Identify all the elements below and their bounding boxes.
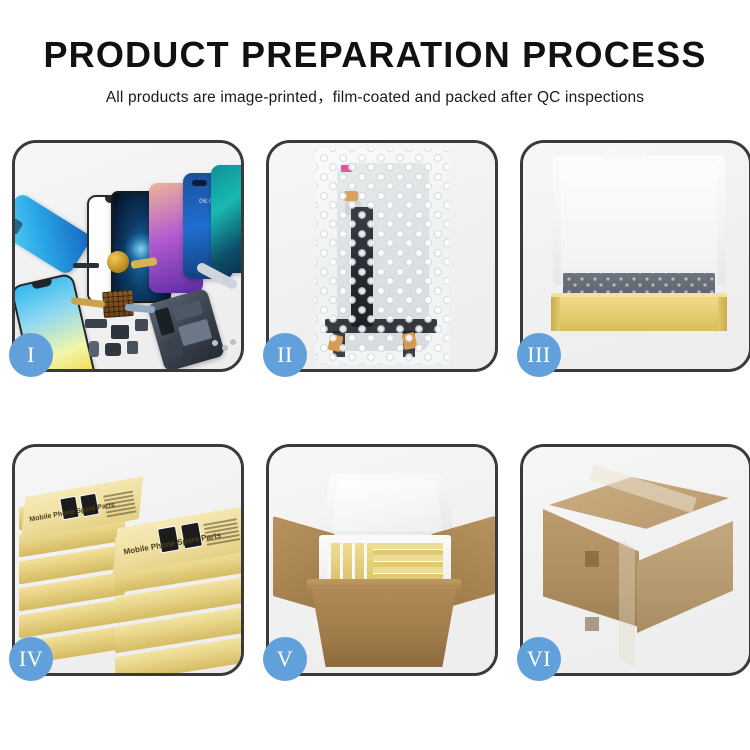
step-2-image bbox=[269, 143, 495, 369]
carton-body-icon bbox=[311, 585, 457, 667]
screws-icon bbox=[211, 339, 237, 353]
step-panel-6: VI bbox=[520, 444, 750, 676]
yellow-box-base-icon bbox=[551, 297, 727, 331]
step-3-image bbox=[523, 143, 749, 369]
page-subtitle: All products are image-printed，film-coat… bbox=[0, 85, 750, 107]
step-panel-4: Mobile Phone Spare Parts Mobile Phone Sp… bbox=[12, 444, 244, 676]
poster-header: PRODUCT PREPARATION PROCESS All products… bbox=[0, 0, 750, 107]
step-badge-6: VI bbox=[517, 637, 561, 681]
step-badge-2: II bbox=[263, 333, 307, 377]
speaker-coil-icon bbox=[107, 251, 129, 273]
step-badge-4: IV bbox=[9, 637, 53, 681]
step-badge-5: V bbox=[263, 637, 307, 681]
foam-box-lid-icon bbox=[319, 473, 455, 540]
step-panel-5: V bbox=[266, 444, 498, 676]
earpiece-mesh-icon bbox=[73, 263, 99, 268]
step-badge-3: III bbox=[517, 333, 561, 377]
phone-teal-swirl-icon bbox=[211, 165, 241, 273]
phones-and-parts-scene: 06:08 bbox=[15, 143, 241, 369]
step-panel-3: III bbox=[520, 140, 750, 372]
stacked-boxes-scene: Mobile Phone Spare Parts Mobile Phone Sp… bbox=[19, 465, 241, 665]
component-part-icon bbox=[85, 319, 107, 328]
bubble-wrap-pouch bbox=[315, 149, 449, 365]
camera-module-icon bbox=[105, 343, 121, 356]
box-lid-tab-icon bbox=[601, 147, 643, 159]
step-6-image bbox=[523, 447, 749, 673]
packing-tape-icon bbox=[619, 539, 635, 667]
step-badge-1: I bbox=[9, 333, 53, 377]
component-part-icon bbox=[111, 325, 129, 339]
component-part-icon bbox=[127, 341, 138, 354]
step-4-image: Mobile Phone Spare Parts Mobile Phone Sp… bbox=[15, 447, 241, 673]
carton-right-face-icon bbox=[637, 521, 733, 633]
carton-handle-notch-icon bbox=[585, 551, 599, 567]
bubble-texture-icon bbox=[315, 149, 449, 365]
step-panel-2: II bbox=[266, 140, 498, 372]
step-1-image: 06:08 bbox=[15, 143, 241, 369]
carton-handle-notch-icon bbox=[585, 617, 599, 631]
component-part-icon bbox=[135, 319, 148, 331]
page-title: PRODUCT PREPARATION PROCESS bbox=[0, 36, 750, 74]
step-5-image bbox=[269, 447, 495, 673]
process-steps-grid: 06:08 bbox=[12, 140, 738, 676]
poster-page: PRODUCT PREPARATION PROCESS All products… bbox=[0, 0, 750, 750]
sim-tray-icon bbox=[89, 341, 99, 357]
foam-liner-icon bbox=[553, 155, 725, 285]
step-panel-1: 06:08 bbox=[12, 140, 244, 372]
